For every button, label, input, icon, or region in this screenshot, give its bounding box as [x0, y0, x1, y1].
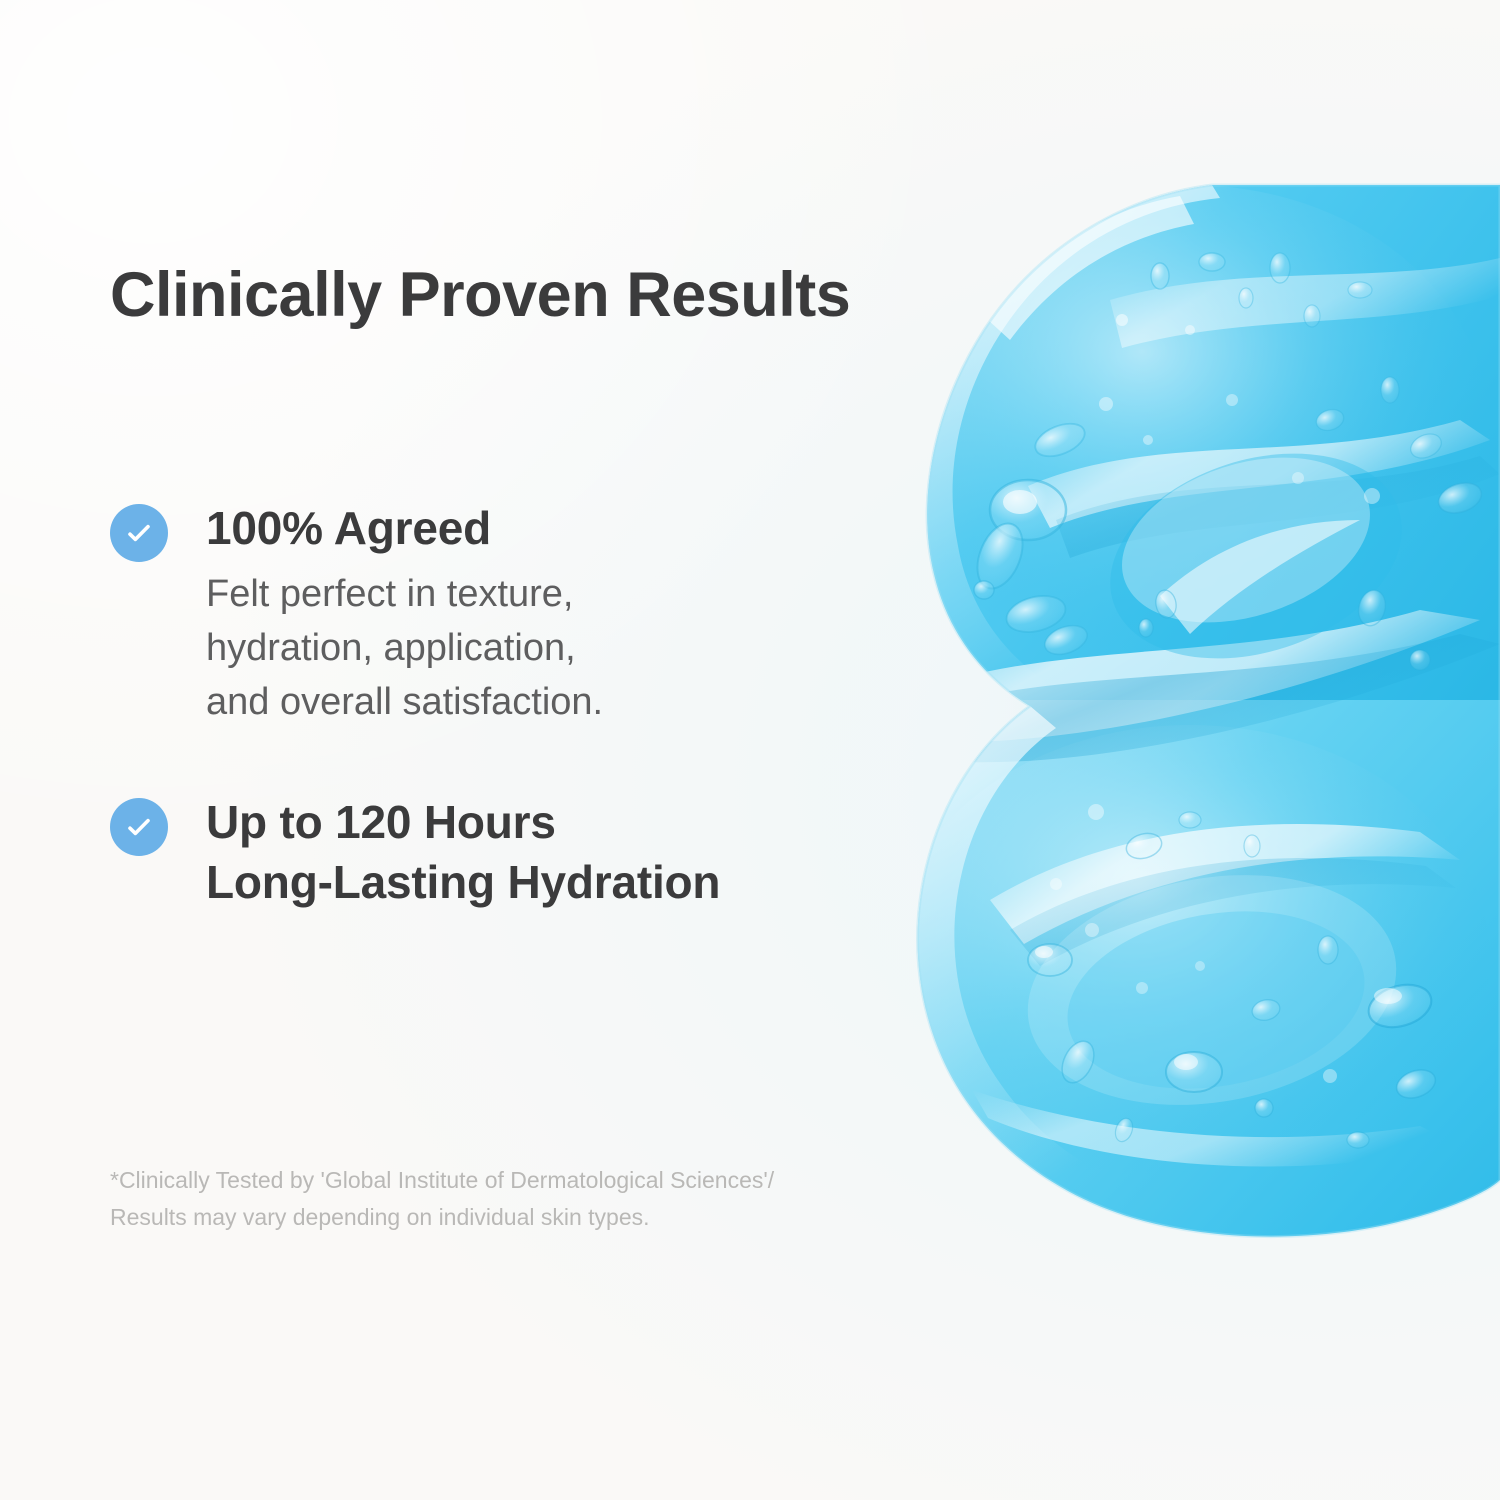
list-item: Up to 120 Hours Long-Lasting Hydration	[110, 792, 970, 913]
disclaimer-footnote: *Clinically Tested by 'Global Institute …	[110, 1162, 774, 1237]
page-title: Clinically Proven Results	[110, 262, 850, 328]
claim-description: Felt perfect in texture, hydration, appl…	[206, 567, 970, 730]
claim-title: Up to 120 Hours Long-Lasting Hydration	[206, 792, 970, 913]
claims-list: 100% Agreed Felt perfect in texture, hyd…	[110, 498, 970, 913]
claim-title: 100% Agreed	[206, 498, 970, 559]
claims-content: Clinically Proven Results 100% Agreed Fe…	[110, 0, 990, 1500]
product-claims-banner: Clinically Proven Results 100% Agreed Fe…	[0, 0, 1500, 1500]
check-circle-icon	[110, 504, 168, 562]
check-circle-icon	[110, 798, 168, 856]
list-item: 100% Agreed Felt perfect in texture, hyd…	[110, 498, 970, 730]
